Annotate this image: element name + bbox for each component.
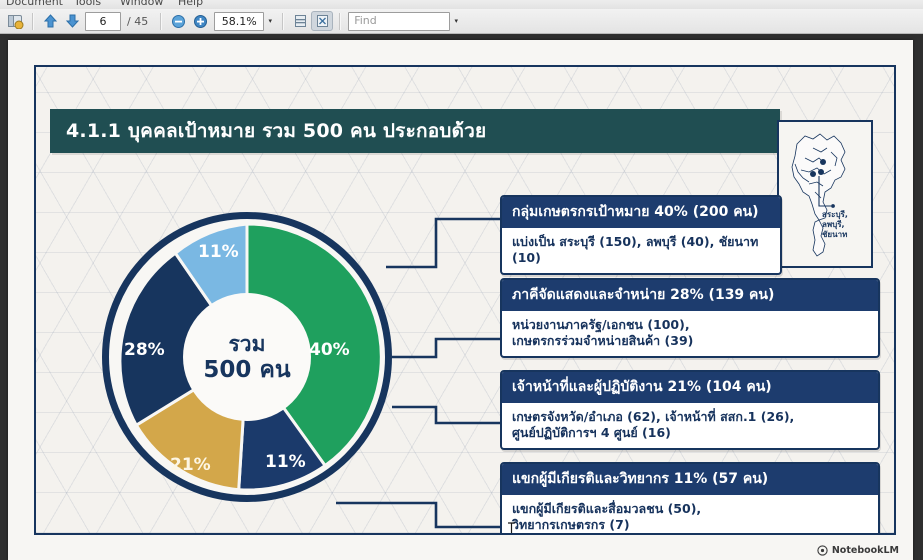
donut-slice-label-28: 28% (124, 340, 165, 360)
toolbar-separator (32, 13, 33, 30)
donut-slice-label-21: 21% (170, 455, 211, 475)
menu-item-document[interactable]: Document (6, 0, 63, 8)
info-box-header: ภาคีจัดแสดงและจำหน่าย 28% (139 คน) (502, 280, 878, 311)
info-box-body-line-1: หน่วยงานภาครัฐ/เอกชน (100), (512, 317, 690, 332)
menu-item-help[interactable]: Help (178, 0, 203, 8)
slide-title-bar: 4.1.1 บุคคลเป้าหมาย รวม 500 คน ประกอบด้ว… (50, 109, 780, 153)
map-label-line-2: ลพบุรี, (822, 220, 845, 229)
info-box-header: กลุ่มเกษตรกรเป้าหมาย 40% (200 คน) (502, 197, 780, 228)
donut-slice-label-11-upper: 11% (198, 242, 239, 262)
donut-chart: รวม 500 คน 40% 11% 21% 28% 11% (102, 212, 392, 502)
map-label-line-1: สระบุรี, (822, 210, 848, 219)
donut-center-line-1: รวม (229, 331, 266, 357)
map-label-line-3: ชัยนาท (822, 230, 847, 239)
page-total-label: / 45 (127, 15, 148, 28)
find-dropdown-icon[interactable]: ▾ (450, 13, 462, 30)
thailand-map-icon (779, 122, 871, 266)
toolbar-separator (160, 13, 161, 30)
info-box-farmers[interactable]: กลุ่มเกษตรกรเป้าหมาย 40% (200 คน) แบ่งเป… (500, 195, 782, 275)
info-box-body: แขกผู้มีเกียรติและสื่อมวลชน (50), วิทยาก… (502, 495, 878, 535)
toolbar-separator (339, 13, 340, 30)
thailand-map-card: สระบุรี, ลพบุรี, ชัยนาท (777, 120, 873, 268)
info-box-header: เจ้าหน้าที่และผู้ปฏิบัติงาน 21% (104 คน) (502, 372, 878, 403)
info-box-body-line-1: แบ่งเป็น สระบุรี (150), ลพบุรี (40), ชัย… (512, 234, 758, 265)
zoom-in-icon[interactable] (189, 11, 211, 31)
info-box-body-line-2: ศูนย์ปฏิบัติการฯ 4 ศูนย์ (16) (512, 425, 671, 440)
info-box-guests[interactable]: แขกผู้มีเกียรติและวิทยากร 11% (57 คน) แข… (500, 462, 880, 535)
zoom-out-icon[interactable] (167, 11, 189, 31)
info-box-body-line-2: เกษตรกรร่วมจำหน่ายสินค้า (39) (512, 333, 693, 348)
info-box-body: แบ่งเป็น สระบุรี (150), ลพบุรี (40), ชัย… (502, 228, 780, 273)
info-box-body: หน่วยงานภาครัฐ/เอกชน (100), เกษตรกรร่วมจ… (502, 311, 878, 356)
donut-center-line-2: 500 คน (203, 357, 290, 384)
info-box-body-line-1: เกษตรจังหวัด/อำเภอ (62), เจ้าหน้าที่ สสก… (512, 409, 794, 424)
donut-slice-label-11-lower: 11% (265, 452, 306, 472)
donut-center-label: รวม 500 คน (183, 293, 311, 421)
zoom-level-input[interactable]: 58.1% (214, 12, 264, 31)
menu-item-tools[interactable]: Tools (74, 0, 101, 8)
sidebar-toggle-icon[interactable] (4, 11, 26, 31)
zoom-dropdown-icon[interactable]: ▾ (264, 13, 276, 30)
notebooklm-watermark: NotebookLM (817, 545, 899, 556)
next-page-icon[interactable] (61, 11, 83, 31)
application-window: Document Tools Window Help 6 / 45 (0, 0, 923, 560)
info-box-body-line-2: วิทยากรเกษตรกร (7) (512, 517, 630, 532)
info-box-officers[interactable]: เจ้าหน้าที่และผู้ปฏิบัติงาน 21% (104 คน)… (500, 370, 880, 450)
toolbar-separator (282, 13, 283, 30)
document-viewer[interactable]: 4.1.1 บุคคลเป้าหมาย รวม 500 คน ประกอบด้ว… (0, 34, 923, 560)
slide-canvas: 4.1.1 บุคคลเป้าหมาย รวม 500 คน ประกอบด้ว… (34, 65, 896, 535)
watermark-label: NotebookLM (832, 545, 899, 556)
text-cursor-icon (507, 522, 516, 535)
find-input[interactable]: Find (348, 12, 450, 31)
info-box-exhibitors[interactable]: ภาคีจัดแสดงและจำหน่าย 28% (139 คน) หน่วย… (500, 278, 880, 358)
document-page: 4.1.1 บุคคลเป้าหมาย รวม 500 คน ประกอบด้ว… (8, 40, 913, 560)
info-box-body-line-1: แขกผู้มีเกียรติและสื่อมวลชน (50), (512, 501, 701, 516)
info-box-body: เกษตรจังหวัด/อำเภอ (62), เจ้าหน้าที่ สสก… (502, 403, 878, 448)
menu-item-window[interactable]: Window (120, 0, 163, 8)
page-number-input[interactable]: 6 (85, 12, 121, 31)
map-label: สระบุรี, ลพบุรี, ชัยนาท (822, 210, 866, 240)
page-title: 4.1.1 บุคคลเป้าหมาย รวม 500 คน ประกอบด้ว… (50, 116, 486, 146)
toolbar: 6 / 45 58.1% ▾ (0, 9, 923, 34)
info-box-header: แขกผู้มีเกียรติและวิทยากร 11% (57 คน) (502, 464, 878, 495)
fit-page-icon[interactable] (311, 11, 333, 31)
fit-width-icon[interactable] (289, 11, 311, 31)
donut-slice-label-40: 40% (309, 340, 350, 360)
previous-page-icon[interactable] (39, 11, 61, 31)
find-placeholder: Find (354, 14, 377, 27)
notebooklm-logo-icon (817, 545, 828, 556)
